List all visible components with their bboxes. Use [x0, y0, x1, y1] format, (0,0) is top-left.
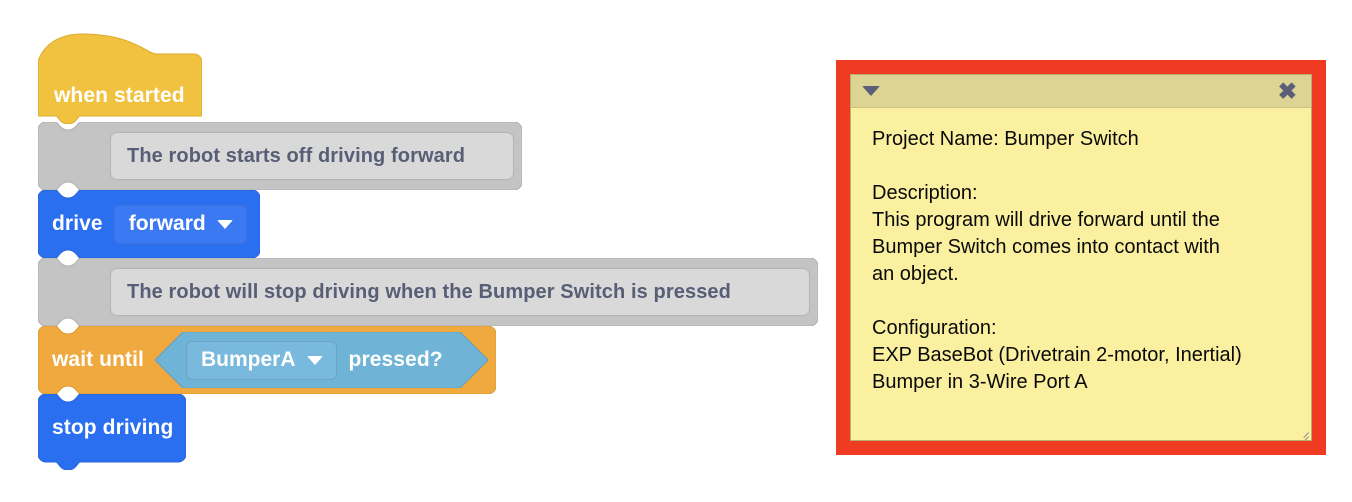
block-comment-2[interactable]: The robot will stop driving when the Bum… [38, 258, 818, 326]
block-comment-1[interactable]: The robot starts off driving forward [38, 122, 522, 190]
drive-direction-dropdown[interactable]: forward [114, 205, 247, 244]
chevron-down-icon [217, 220, 233, 229]
note-body-text[interactable]: Project Name: Bumper Switch Description:… [851, 108, 1311, 440]
drive-label: drive [52, 212, 103, 236]
boolean-bumper-pressed[interactable]: BumperA pressed? [155, 332, 488, 388]
when-started-shape [38, 32, 202, 124]
note-paper: ✖ Project Name: Bumper Switch Descriptio… [850, 74, 1312, 441]
when-started-label: when started [54, 84, 185, 108]
stop-driving-label: stop driving [52, 416, 173, 440]
note-header-bar: ✖ [851, 75, 1311, 108]
comment-1-text: The robot starts off driving forward [127, 145, 465, 168]
comment-1-field[interactable]: The robot starts off driving forward [110, 132, 514, 180]
chevron-down-icon[interactable] [862, 86, 880, 96]
close-icon[interactable]: ✖ [1278, 80, 1297, 103]
block-when-started[interactable]: when started [38, 32, 202, 124]
boolean-suffix-label: pressed? [349, 348, 443, 372]
comment-2-field[interactable]: The robot will stop driving when the Bum… [110, 268, 810, 316]
block-wait-until[interactable]: wait until BumperA pressed? [38, 326, 496, 394]
chevron-down-icon [307, 356, 323, 365]
block-workspace: when started The robot starts off drivin… [0, 0, 840, 502]
bumper-device-value: BumperA [201, 348, 296, 372]
block-drive[interactable]: drive forward [38, 190, 260, 258]
resize-handle[interactable] [1297, 426, 1309, 438]
block-stop-driving[interactable]: stop driving [38, 394, 186, 470]
drive-direction-value: forward [129, 212, 206, 236]
bumper-device-dropdown[interactable]: BumperA [186, 341, 337, 380]
project-note-panel[interactable]: ✖ Project Name: Bumper Switch Descriptio… [836, 60, 1326, 455]
wait-until-label: wait until [52, 348, 144, 372]
comment-2-text: The robot will stop driving when the Bum… [127, 281, 731, 304]
